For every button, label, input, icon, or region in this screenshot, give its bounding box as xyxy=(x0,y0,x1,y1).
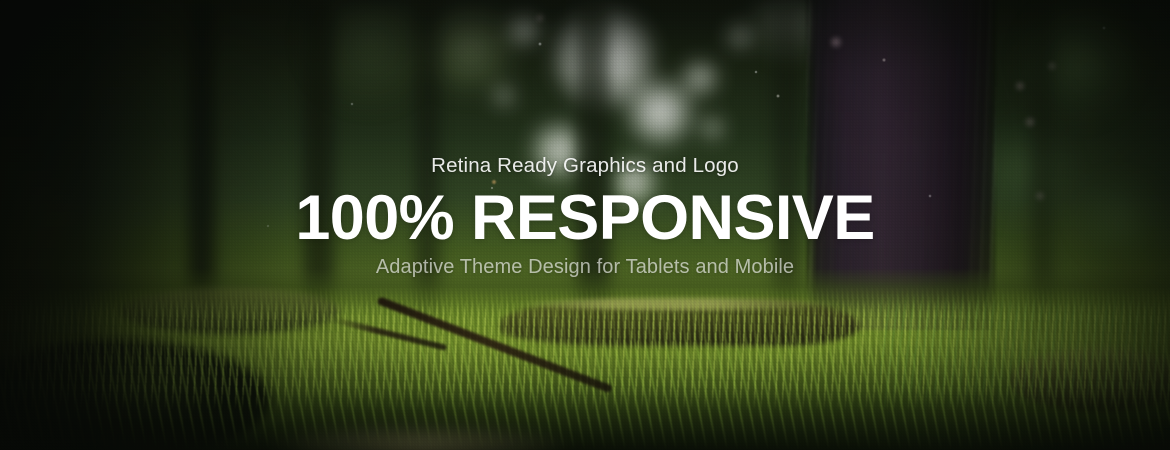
hero-subtitle: Adaptive Theme Design for Tablets and Mo… xyxy=(0,253,1170,281)
mossy-rock-left xyxy=(0,340,270,450)
mossy-rock-right xyxy=(1010,348,1170,412)
grass-blades-back-layer xyxy=(0,286,1170,382)
blurred-foreground-element xyxy=(240,418,600,450)
forest-ground-band xyxy=(0,268,1170,450)
small-twig xyxy=(329,316,447,351)
grass-blades-right-layer xyxy=(880,292,1170,412)
hero-copy-block: Retina Ready Graphics and Logo 100% RESP… xyxy=(0,152,1170,281)
fallen-log xyxy=(500,300,860,346)
diagonal-branch xyxy=(377,296,613,393)
hero-banner: Retina Ready Graphics and Logo 100% RESP… xyxy=(0,0,1170,450)
sunlight-on-grass-glow xyxy=(0,280,1170,420)
mossy-mound-left xyxy=(120,288,340,334)
hero-tagline: Retina Ready Graphics and Logo xyxy=(0,152,1170,180)
grass-blades-front-layer xyxy=(0,330,1170,450)
grass-blades-middle-layer xyxy=(0,300,1170,410)
fallen-log-moss-highlight xyxy=(512,298,842,310)
hero-headline: 100% RESPONSIVE xyxy=(0,182,1170,254)
